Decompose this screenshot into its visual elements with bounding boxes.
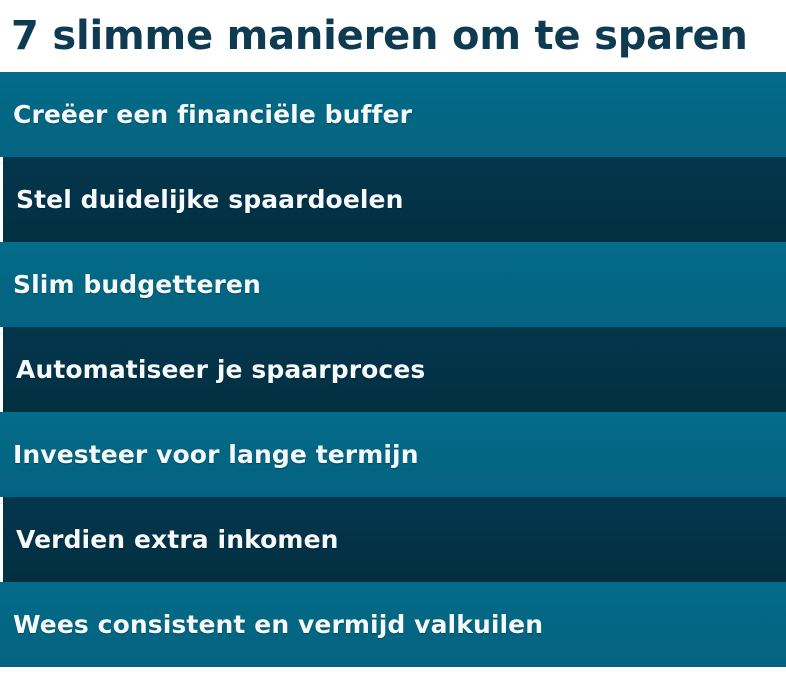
list-item-label: Investeer voor lange termijn: [0, 440, 431, 470]
list-item-label: Stel duidelijke spaardoelen: [3, 185, 416, 215]
list-item[interactable]: Stel duidelijke spaardoelen: [3, 157, 786, 242]
list-item[interactable]: Automatiseer je spaarproces: [3, 327, 786, 412]
title-bar: 7 slimme manieren om te sparen: [0, 0, 786, 72]
tips-list: Creëer een financiële buffer Stel duidel…: [0, 72, 786, 668]
list-item-label: Wees consistent en vermijd valkuilen: [0, 610, 555, 640]
list-item[interactable]: Creëer een financiële buffer: [0, 72, 786, 157]
infographic-root: 7 slimme manieren om te sparen Creëer ee…: [0, 0, 786, 697]
list-item-label: Verdien extra inkomen: [3, 525, 351, 555]
list-item[interactable]: Verdien extra inkomen: [3, 497, 786, 582]
list-item[interactable]: Slim budgetteren: [0, 242, 786, 327]
list-item-label: Slim budgetteren: [0, 270, 273, 300]
page-title: 7 slimme manieren om te sparen: [0, 14, 748, 58]
list-item-label: Automatiseer je spaarproces: [3, 355, 437, 385]
list-item[interactable]: Wees consistent en vermijd valkuilen: [0, 582, 786, 667]
list-item[interactable]: Investeer voor lange termijn: [0, 412, 786, 497]
list-item-label: Creëer een financiële buffer: [0, 100, 424, 130]
